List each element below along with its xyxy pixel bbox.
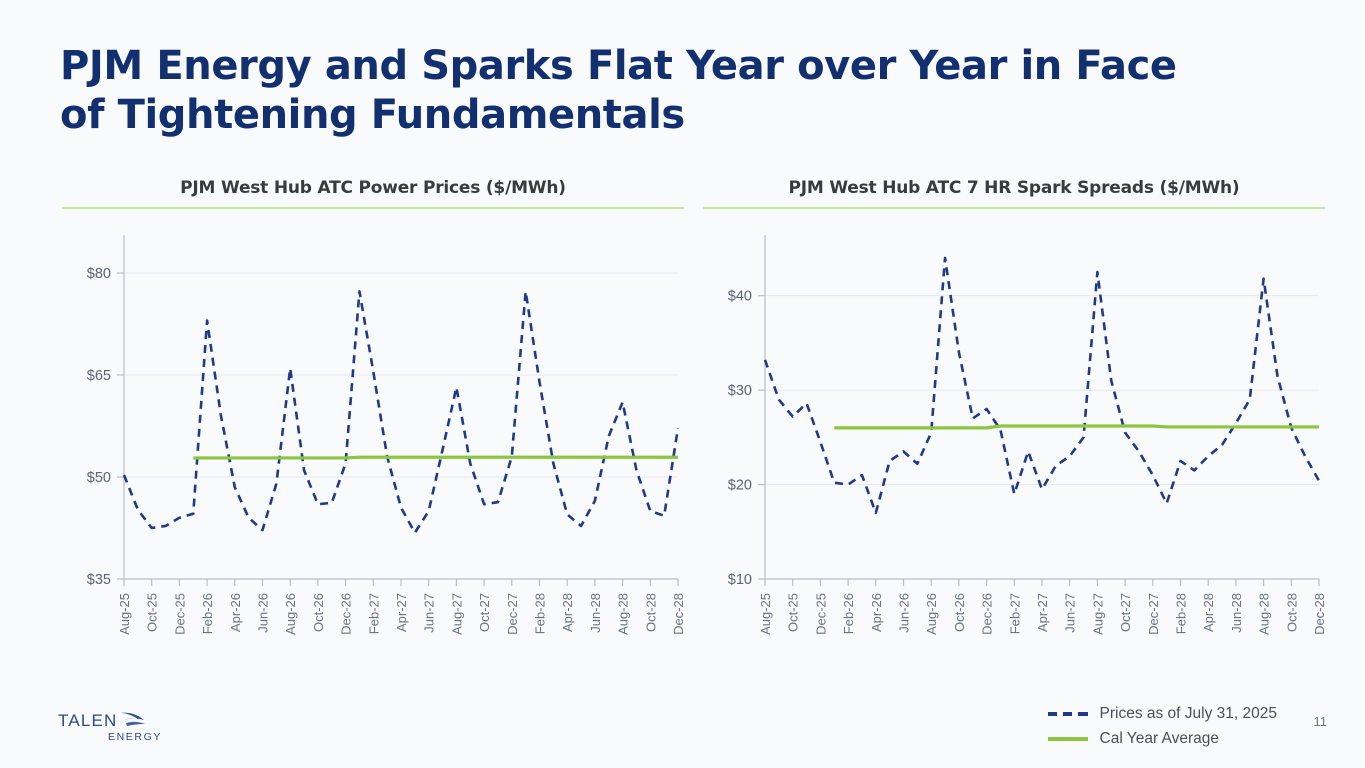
x-tick-label: Feb-28: [1174, 593, 1189, 634]
x-tick-label: Jun-26: [256, 593, 271, 633]
logo-subwordmark: ENERGY: [108, 731, 162, 743]
x-tick-label: Dec-27: [505, 593, 520, 635]
x-tick-label: Aug-26: [283, 593, 298, 635]
x-tick-label: Aug-26: [924, 593, 939, 635]
logo-mark-icon: TALEN ENERGY: [58, 707, 188, 747]
x-tick-label: Aug-25: [117, 593, 132, 635]
chart-title-spark-spreads: PJM West Hub ATC 7 HR Spark Spreads ($/M…: [703, 178, 1325, 207]
chart-legend: Prices as of July 31, 2025 Cal Year Aver…: [1048, 705, 1278, 748]
y-tick-label: $20: [728, 478, 752, 494]
plot-area-power-prices: $35$50$65$80Aug-25Oct-25Dec-25Feb-26Apr-…: [62, 231, 684, 651]
x-tick-label: Aug-28: [1257, 593, 1272, 635]
x-tick-label: Aug-28: [616, 593, 631, 635]
x-tick-label: Oct-28: [643, 593, 658, 632]
x-tick-label: Feb-26: [841, 593, 856, 634]
x-tick-label: Feb-27: [366, 593, 381, 634]
x-tick-label: Jun-27: [422, 593, 437, 633]
series-line-average: [834, 426, 1319, 428]
legend-label-average: Cal Year Average: [1100, 730, 1220, 748]
x-tick-label: Apr-27: [1035, 593, 1050, 632]
y-tick-label: $35: [87, 572, 111, 588]
page-title: PJM Energy and Sparks Flat Year over Yea…: [60, 42, 1220, 140]
legend-label-prices: Prices as of July 31, 2025: [1100, 705, 1278, 723]
talen-energy-logo: TALEN ENERGY: [58, 707, 188, 747]
x-tick-label: Aug-27: [1090, 593, 1105, 635]
x-tick-label: Oct-27: [477, 593, 492, 632]
x-tick-label: Oct-26: [311, 593, 326, 632]
x-tick-label: Jun-26: [897, 593, 912, 633]
slide-root: PJM Energy and Sparks Flat Year over Yea…: [0, 0, 1365, 768]
chart-title-divider-right: [703, 207, 1325, 209]
legend-item-average: Cal Year Average: [1048, 730, 1278, 748]
x-tick-label: Dec-28: [1312, 593, 1325, 635]
y-tick-label: $10: [728, 572, 752, 588]
x-tick-label: Dec-27: [1146, 593, 1161, 635]
chart-panel-spark-spreads: PJM West Hub ATC 7 HR Spark Spreads ($/M…: [703, 178, 1325, 678]
x-tick-label: Jun-28: [1229, 593, 1244, 633]
y-tick-label: $65: [87, 368, 111, 384]
x-tick-label: Jun-28: [588, 593, 603, 633]
page-number: 11: [1314, 714, 1328, 729]
x-tick-label: Aug-27: [449, 593, 464, 635]
y-tick-label: $80: [87, 266, 111, 282]
plot-area-spark-spreads: $10$20$30$40Aug-25Oct-25Dec-25Feb-26Apr-…: [703, 231, 1325, 651]
x-tick-label: Dec-25: [172, 593, 187, 635]
chart-svg-power-prices: $35$50$65$80Aug-25Oct-25Dec-25Feb-26Apr-…: [62, 231, 684, 651]
y-tick-label: $40: [728, 289, 752, 305]
chart-title-divider-left: [62, 207, 684, 209]
x-tick-label: Oct-28: [1284, 593, 1299, 632]
x-tick-label: Feb-26: [200, 593, 215, 634]
y-tick-label: $30: [728, 383, 752, 399]
legend-item-prices: Prices as of July 31, 2025: [1048, 705, 1278, 723]
x-tick-label: Feb-27: [1007, 593, 1022, 634]
legend-swatch-dashed-icon: [1048, 712, 1088, 716]
x-tick-label: Apr-27: [394, 593, 409, 632]
x-tick-label: Jun-27: [1063, 593, 1078, 633]
x-tick-label: Dec-26: [339, 593, 354, 635]
x-tick-label: Oct-25: [145, 593, 160, 632]
x-tick-label: Apr-28: [560, 593, 575, 632]
chart-panel-power-prices: PJM West Hub ATC Power Prices ($/MWh) $3…: [62, 178, 684, 678]
x-tick-label: Dec-25: [813, 593, 828, 635]
x-tick-label: Dec-28: [671, 593, 684, 635]
x-tick-label: Apr-26: [869, 593, 884, 632]
logo-wing-icon: [121, 713, 144, 720]
x-tick-label: Apr-26: [228, 593, 243, 632]
logo-wordmark: TALEN: [58, 711, 118, 730]
logo-wing-lower-icon: [126, 722, 145, 726]
x-tick-label: Oct-26: [952, 593, 967, 632]
legend-swatch-solid-icon: [1048, 737, 1088, 741]
x-tick-label: Apr-28: [1201, 593, 1216, 632]
chart-title-power-prices: PJM West Hub ATC Power Prices ($/MWh): [62, 178, 684, 207]
series-line-average: [193, 457, 678, 458]
x-tick-label: Oct-25: [786, 593, 801, 632]
series-line-prices: [124, 291, 678, 532]
x-tick-label: Dec-26: [980, 593, 995, 635]
x-tick-label: Aug-25: [758, 593, 773, 635]
chart-svg-spark-spreads: $10$20$30$40Aug-25Oct-25Dec-25Feb-26Apr-…: [703, 231, 1325, 651]
x-tick-label: Oct-27: [1118, 593, 1133, 632]
y-tick-label: $50: [87, 470, 111, 486]
x-tick-label: Feb-28: [533, 593, 548, 634]
